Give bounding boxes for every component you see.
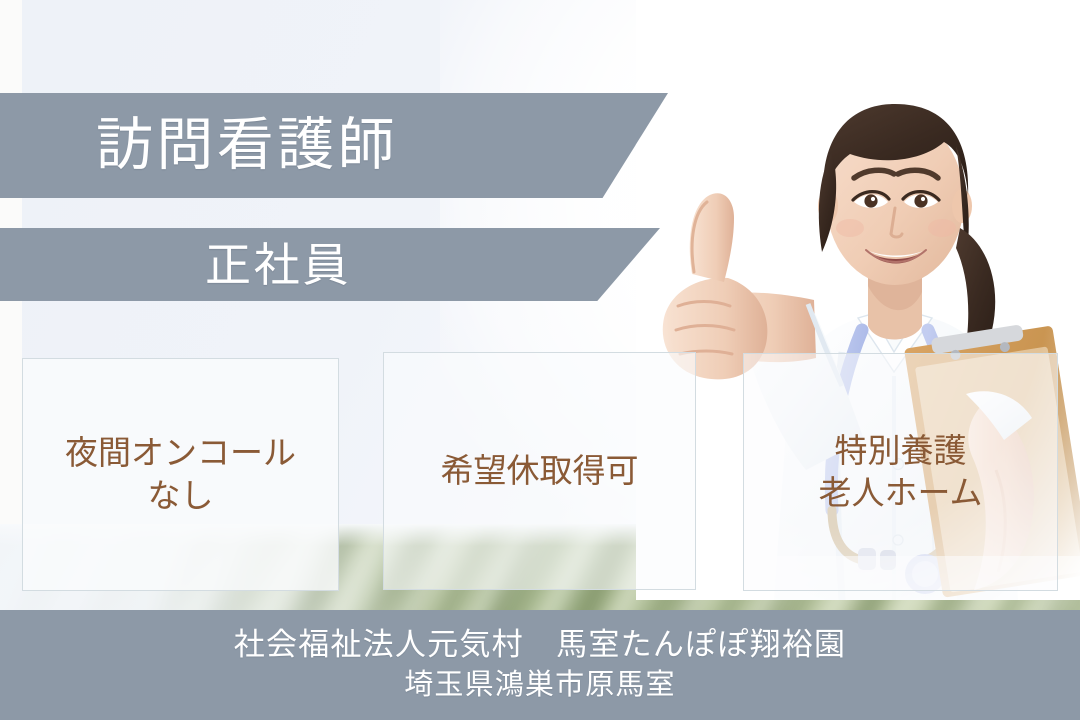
footer-organization: 社会福祉法人元気村 馬室たんぽぽ翔裕園: [234, 628, 847, 662]
footer-bar: 社会福祉法人元気村 馬室たんぽぽ翔裕園 埼玉県鴻巣市原馬室: [0, 610, 1080, 720]
feature-label-no-night-oncall: 夜間オンコール なし: [57, 432, 304, 516]
employment-type-banner: 正社員: [0, 228, 660, 301]
employment-type-text: 正社員: [205, 242, 351, 288]
job-title-banner: 訪問看護師: [0, 93, 668, 198]
job-title-text: 訪問看護師: [96, 117, 398, 174]
recruitment-poster: 訪問看護師 正社員 夜間オンコール なし 希望休取得可 特別養護 老人ホーム 社…: [0, 0, 1080, 720]
feature-label-special-nursing-home: 特別養護 老人ホーム: [810, 430, 990, 514]
feature-label-requested-days-off: 希望休取得可: [433, 450, 647, 492]
footer-location: 埼玉県鴻巣市原馬室: [404, 670, 675, 702]
feature-box-no-night-oncall: 夜間オンコール なし: [22, 358, 339, 591]
feature-box-requested-days-off: 希望休取得可: [383, 352, 696, 590]
feature-box-special-nursing-home: 特別養護 老人ホーム: [743, 353, 1058, 591]
